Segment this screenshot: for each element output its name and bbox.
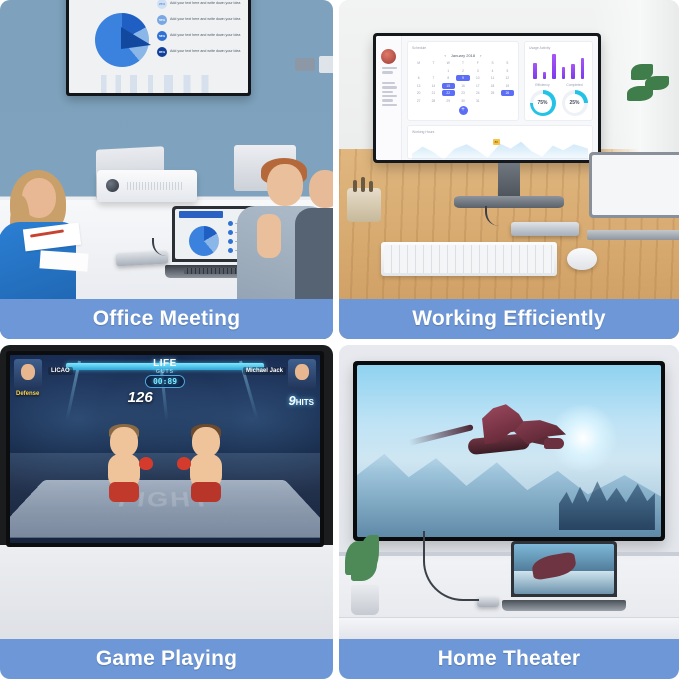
donut-gauge: 75%	[530, 90, 556, 116]
slide-bullet-list: 25% Add your text here and write down yo…	[157, 0, 243, 63]
keyboard[interactable]	[381, 242, 557, 276]
player-left-name: LICAO	[48, 367, 73, 375]
dashboard-main: Schedule ‹ January 2018 › MTWTFSS 12345 …	[402, 36, 598, 160]
leaf	[627, 86, 653, 101]
caption-label: Office Meeting	[93, 307, 240, 331]
sidebar-item[interactable]	[382, 99, 393, 101]
panel-office-meeting: 25% Add your text here and write down yo…	[0, 0, 333, 339]
calendar-day[interactable]	[501, 98, 514, 104]
calendar-header: ‹ January 2018 ›	[412, 53, 514, 58]
area-chart-title: Working Hours	[412, 130, 588, 134]
caption-label: Working Efficiently	[412, 307, 606, 331]
pen-holder	[347, 188, 381, 222]
life-label: LIFE	[153, 358, 177, 369]
boxer-left	[103, 427, 145, 513]
sidebar-item[interactable]	[382, 86, 397, 88]
laptop-screen	[514, 544, 614, 594]
presentation-screen: 25% Add your text here and write down yo…	[66, 0, 251, 96]
gauge-efficiency: Efficiency 75%	[529, 83, 556, 116]
bar	[552, 54, 556, 79]
calendar-day[interactable]: 24	[471, 90, 484, 96]
calendar-weekday: T	[427, 60, 440, 66]
calendar-day[interactable]: 25	[486, 90, 499, 96]
mini-slide-title	[179, 211, 223, 218]
laptop-lid	[589, 152, 679, 218]
boxing-ring-floor	[10, 480, 320, 538]
calendar-day[interactable]: 29	[442, 98, 455, 104]
calendar-day[interactable]: 30	[456, 98, 469, 104]
panel-home-theater: Home Theater	[339, 345, 679, 679]
wall-trim	[339, 552, 679, 556]
bullet-text: Add your text here and write down your i…	[170, 1, 240, 6]
plant-pot	[351, 585, 379, 615]
calendar-day-selected[interactable]: 26	[501, 90, 514, 96]
slide-bullet-item: 55% Add your text here and write down yo…	[157, 15, 243, 25]
bar	[581, 58, 585, 79]
tv-screen	[357, 365, 661, 537]
caption-label: Home Theater	[438, 647, 580, 671]
bar	[533, 63, 537, 79]
monitor-screen: Schedule ‹ January 2018 › MTWTFSS 12345 …	[376, 36, 598, 160]
calendar-day[interactable]: 16	[456, 83, 469, 89]
calendar-prev-icon[interactable]: ‹	[445, 53, 446, 58]
shorts	[109, 482, 139, 502]
calendar-day[interactable]: 11	[486, 75, 499, 81]
head	[267, 164, 303, 206]
calendar-day[interactable]: 4	[486, 68, 499, 74]
panel-working-efficiently: Schedule ‹ January 2018 › MTWTFSS 12345 …	[339, 0, 679, 339]
calendar-day[interactable]: 5	[501, 68, 514, 74]
product-feature-collage: 25% Add your text here and write down yo…	[0, 0, 679, 679]
caption-office-meeting: Office Meeting	[0, 299, 333, 339]
calendar-day[interactable]: 10	[471, 75, 484, 81]
pen	[361, 177, 365, 192]
face	[21, 364, 35, 380]
panel-game-playing: LIFE GUTS LICAO Michael Jack 00:89 Defen…	[0, 345, 333, 679]
arm	[257, 214, 281, 258]
slide-skyline-graphic	[69, 67, 248, 93]
gauge-group: Efficiency 75% Completed 25%	[529, 83, 588, 116]
area-chart	[412, 137, 588, 160]
leaf	[351, 553, 377, 581]
dashboard-row-top: Schedule ‹ January 2018 › MTWTFSS 12345 …	[407, 41, 593, 121]
calendar-day[interactable]: 2	[456, 68, 469, 74]
sidebar-item[interactable]	[382, 104, 397, 106]
calendar-day[interactable]: 18	[486, 83, 499, 89]
sidebar-item[interactable]	[382, 95, 397, 97]
shorts	[191, 482, 221, 502]
sidebar-item[interactable]	[382, 91, 393, 93]
media-console	[339, 617, 679, 639]
calendar-day[interactable]: 8	[442, 75, 455, 81]
gauge-label: Efficiency	[535, 83, 549, 87]
calendar-day[interactable]: 7	[427, 75, 440, 81]
game-hud: LIFE GUTS LICAO Michael Jack 00:89 Defen…	[10, 357, 320, 403]
calendar-day[interactable]: 21	[427, 90, 440, 96]
calendar-day[interactable]	[412, 68, 425, 74]
dragon-head	[544, 438, 564, 449]
area-chart-card: Working Hours 86	[407, 125, 593, 159]
scene-home-theater	[339, 345, 679, 679]
sidebar-name-line	[382, 67, 397, 69]
calendar-weekday: M	[412, 60, 425, 66]
head	[110, 427, 138, 457]
hit-label: HITS	[296, 398, 314, 407]
calendar-day[interactable]: 19	[501, 83, 514, 89]
score-popup: 126	[128, 389, 153, 406]
tv-screen: LIFE GUTS LICAO Michael Jack 00:89 Defen…	[10, 355, 320, 543]
bar-chart	[529, 53, 588, 79]
calendar-next-icon[interactable]: ›	[480, 53, 481, 58]
calendar-day[interactable]: 13	[412, 83, 425, 89]
calendar-day[interactable]: 12	[501, 75, 514, 81]
match-timer: 00:89	[145, 375, 185, 388]
monitor-stand	[498, 163, 520, 199]
projector-lens-icon	[106, 179, 119, 192]
face	[295, 364, 309, 380]
laptop-screen	[592, 155, 679, 215]
calendar-card-title: Schedule	[412, 46, 514, 50]
keyboard-keys	[384, 245, 554, 273]
documents-secondary	[39, 250, 88, 271]
bullet-text: Add your text here and write down your i…	[170, 49, 240, 54]
player-left-portrait	[14, 359, 42, 389]
calendar-day[interactable]: 28	[427, 98, 440, 104]
calendar-weekday: S	[486, 60, 499, 66]
life-meter-label: LIFE GUTS	[153, 358, 177, 375]
head	[192, 427, 220, 457]
presentation-slide: 25% Add your text here and write down yo…	[69, 0, 248, 93]
laptop-base	[502, 600, 626, 611]
wall-outlet	[295, 58, 315, 71]
calendar-day[interactable]	[427, 68, 440, 74]
calendar-grid[interactable]: MTWTFSS 12345 6789101112 13141516171819 …	[412, 60, 514, 104]
bar-chart-card: Usage Activity	[524, 41, 593, 121]
gauge-value: 25%	[565, 94, 584, 113]
calendar-day-selected[interactable]: 9	[456, 75, 469, 81]
dashboard-sidebar[interactable]	[376, 36, 402, 160]
calendar-weekday: S	[501, 60, 514, 66]
hit-count: 9	[289, 393, 296, 408]
bullet-percent-badge: 25%	[157, 0, 167, 9]
slide-bullet-item: 58% Add your text here and write down yo…	[157, 31, 243, 41]
calendar-day[interactable]: 3	[471, 68, 484, 74]
bullet-text: Add your text here and write down your i…	[170, 33, 240, 38]
calendar-day[interactable]: 17	[471, 83, 484, 89]
boxing-glove	[139, 457, 153, 470]
avatar	[381, 49, 396, 64]
external-monitor: Schedule ‹ January 2018 › MTWTFSS 12345 …	[373, 33, 601, 163]
pie-chart-wedge	[121, 27, 151, 49]
calendar-day[interactable]: 27	[412, 98, 425, 104]
dragon-tail	[408, 424, 473, 446]
hit-counter: 9HITS	[289, 393, 314, 408]
laptop-lid	[511, 541, 617, 597]
hub-cable	[152, 238, 184, 256]
mouse[interactable]	[567, 248, 597, 270]
projector-vents	[127, 182, 182, 190]
calendar-day[interactable]: 14	[427, 83, 440, 89]
laptop-base	[587, 230, 679, 240]
bar-chart-title: Usage Activity	[529, 46, 588, 50]
potted-plant	[341, 533, 387, 617]
calendar-day[interactable]: 6	[412, 75, 425, 81]
calendar-day[interactable]	[486, 98, 499, 104]
usb-c-hub	[511, 222, 579, 236]
calendar-day[interactable]: 20	[412, 90, 425, 96]
calendar-day[interactable]: 1	[442, 68, 455, 74]
usb-c-hub	[477, 597, 499, 607]
bullet-text: Add your text here and write down your i…	[170, 17, 240, 22]
bar	[562, 67, 566, 79]
player-right-portrait	[288, 359, 316, 389]
calendar-add-icon[interactable]: +	[459, 106, 468, 115]
calendar-card: Schedule ‹ January 2018 › MTWTFSS 12345 …	[407, 41, 519, 121]
boxer-right	[185, 427, 227, 513]
calendar-day[interactable]: 31	[471, 98, 484, 104]
head	[309, 170, 333, 208]
calendar-day-selected[interactable]: 22	[442, 90, 455, 96]
calendar-weekday: T	[456, 60, 469, 66]
projector	[97, 170, 197, 202]
hub-cable-to-monitor	[485, 206, 515, 226]
caption-game-playing: Game Playing	[0, 639, 333, 679]
wall-mounted-tv	[353, 361, 665, 541]
donut-gauge: 25%	[562, 90, 588, 116]
dragon	[436, 406, 576, 468]
calendar-day-selected[interactable]: 15	[442, 83, 455, 89]
potted-plant	[625, 60, 677, 146]
slide-bullet-item: 25% Add your text here and write down yo…	[157, 0, 243, 9]
scene-office-meeting: 25% Add your text here and write down yo…	[0, 0, 333, 339]
pen	[369, 181, 373, 192]
calendar-weekday: W	[442, 60, 455, 66]
gauge-label: Completed	[566, 83, 582, 87]
defense-status: Defense	[16, 391, 39, 397]
calendar-day[interactable]: 23	[456, 90, 469, 96]
bullet-percent-badge: 55%	[157, 15, 167, 25]
scene-working-efficiently: Schedule ‹ January 2018 › MTWTFSS 12345 …	[339, 0, 679, 339]
laptop	[511, 541, 617, 611]
scene-game-playing: LIFE GUTS LICAO Michael Jack 00:89 Defen…	[0, 345, 333, 679]
pen	[353, 180, 357, 192]
player-right-name: Michael Jack	[243, 367, 286, 375]
caption-home-theater: Home Theater	[339, 639, 679, 679]
boxing-glove	[177, 457, 191, 470]
calendar-month-label: January 2018	[451, 53, 475, 58]
caption-working-efficiently: Working Efficiently	[339, 299, 679, 339]
area-chart-tooltip: 86	[493, 139, 500, 145]
sidebar-role-line	[382, 71, 393, 73]
bar	[543, 72, 547, 79]
big-screen-tv: LIFE GUTS LICAO Michael Jack 00:89 Defen…	[6, 351, 324, 547]
bullet-percent-badge: 58%	[157, 31, 167, 41]
bullet-percent-badge: 85%	[157, 47, 167, 57]
gauge-value: 75%	[533, 94, 552, 113]
sidebar-item[interactable]	[382, 82, 395, 84]
caption-label: Game Playing	[96, 647, 237, 671]
bar	[571, 64, 575, 79]
wall-panel	[319, 56, 333, 73]
gauge-completed: Completed 25%	[561, 83, 588, 116]
mini-pie-chart	[189, 226, 219, 256]
calendar-weekday: F	[471, 60, 484, 66]
slide-bullet-item: 85% Add your text here and write down yo…	[157, 47, 243, 57]
laptop	[589, 152, 679, 244]
